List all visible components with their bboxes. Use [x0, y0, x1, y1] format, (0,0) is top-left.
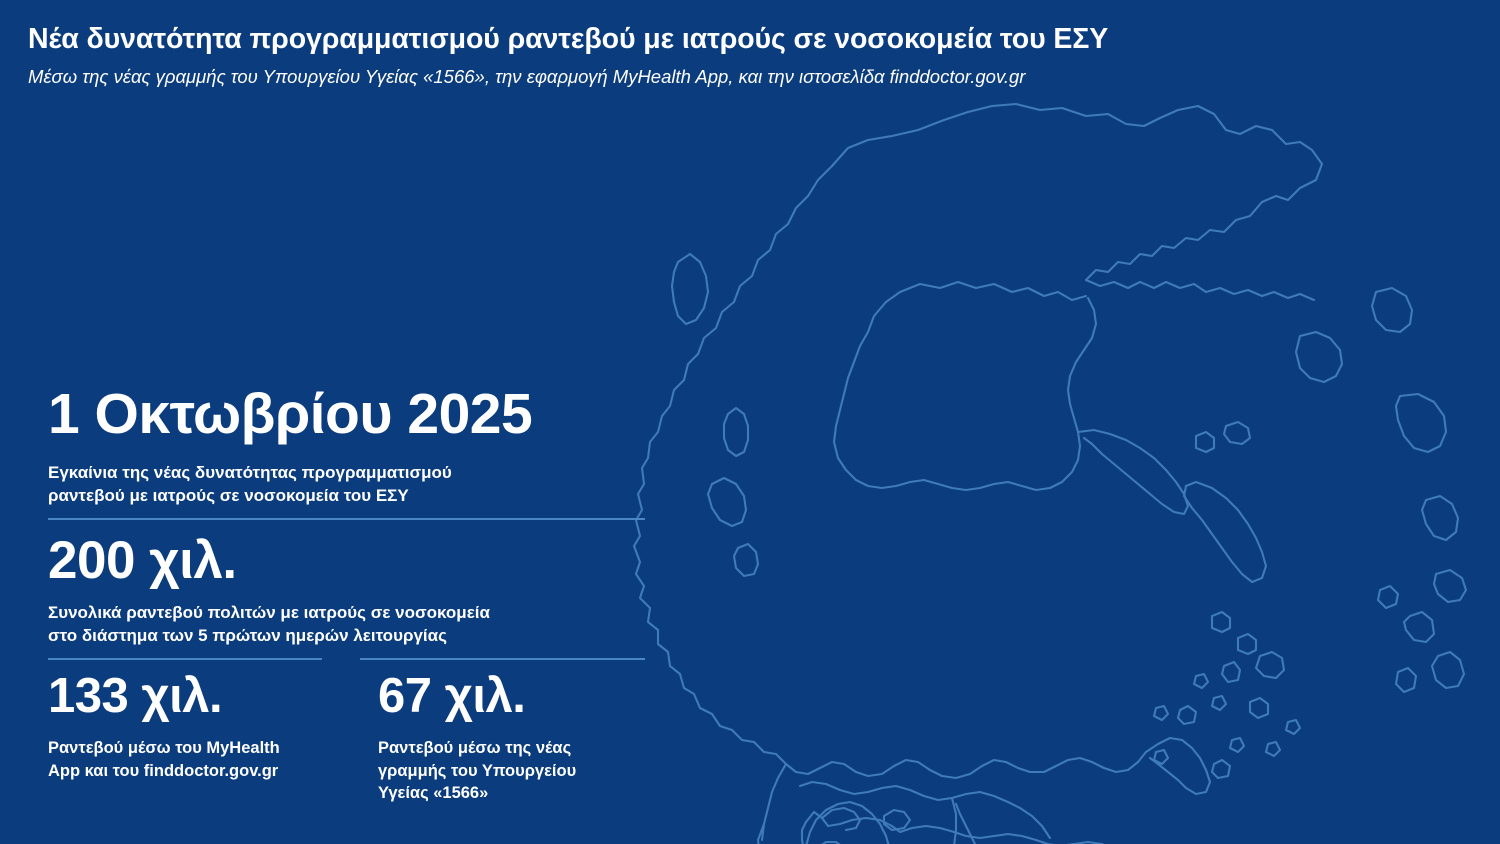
launch-date-value: 1 Οκτωβρίου 2025: [48, 386, 648, 443]
map-samos-island: [1434, 570, 1466, 602]
header: Νέα δυνατότητα προγραμματισμού ραντεβού …: [28, 22, 1478, 89]
map-gulf-of-corinth-north: [786, 752, 1146, 778]
map-kos-island: [1404, 612, 1434, 642]
map-corfu-island: [672, 254, 708, 324]
map-cyclades-small-island: [1286, 720, 1300, 734]
map-lefkada-island: [724, 408, 748, 456]
map-chios-island: [1422, 496, 1458, 540]
map-peloponnese-west: [758, 802, 892, 844]
map-kalymnos-island: [1378, 586, 1398, 608]
stat-block-total-appointments: 200 χιλ. Συνολικά ραντεβού πολιτών με ια…: [48, 534, 648, 647]
map-thessaly-boundary: [834, 292, 1096, 490]
map-euboea-island: [1184, 482, 1266, 582]
map-northern-border: [832, 104, 1322, 280]
divider-line-2: [48, 658, 322, 660]
page-subtitle: Μέσω της νέας γραμμής του Υπουργείου Υγε…: [28, 65, 1478, 89]
map-crete-island: [802, 812, 1220, 844]
map-crete-north-cape: [822, 808, 860, 830]
stats-panel: 1 Οκτωβρίου 2025 Εγκαίνια της νέας δυνατ…: [48, 386, 648, 804]
total-appointments-caption: Συνολικά ραντεβού πολιτών με ιατρούς σε …: [48, 602, 648, 647]
map-karpathos-island: [1396, 668, 1416, 692]
map-skiathos-island: [1196, 432, 1214, 452]
map-skopelos-island: [1224, 422, 1250, 444]
stat-block-launch-date: 1 Οκτωβρίου 2025 Εγκαίνια της νέας δυνατ…: [48, 386, 648, 520]
map-magnesia-peninsula: [1078, 430, 1188, 514]
hotline-caption: Ραντεβού μέσω της νέας γραμμής του Υπουρ…: [378, 737, 648, 803]
map-crete-spinalonga-bay: [884, 810, 910, 830]
stat-breakdown-row: 133 χιλ. Ραντεβού μέσω του MyHealth App …: [48, 672, 648, 803]
map-thrace-coast: [1086, 280, 1314, 300]
map-syros-island: [1222, 662, 1240, 682]
map-zakynthos-island: [734, 544, 758, 576]
map-naxos-island: [1250, 698, 1268, 718]
map-kythnos-island: [1194, 674, 1208, 688]
map-andros-island: [1212, 612, 1230, 632]
map-kefalonia-island: [708, 478, 746, 526]
map-peloponnese-mani: [952, 798, 1004, 844]
map-milos-island: [1154, 750, 1168, 764]
map-samothraki-island: [1372, 288, 1412, 332]
map-peloponnese-north: [762, 764, 1050, 840]
map-lesvos-island: [1396, 394, 1446, 452]
map-rhodes-island: [1432, 652, 1464, 688]
map-western-coast: [634, 166, 832, 764]
map-internal-boundary-north: [900, 282, 1086, 300]
map-kea-island: [1154, 706, 1168, 720]
total-appointments-value: 200 χιλ.: [48, 534, 648, 587]
map-tinos-island: [1238, 634, 1256, 654]
stat-block-hotline: 67 χιλ. Ραντεβού μέσω της νέας γραμμής τ…: [378, 672, 648, 803]
divider-line-1: [48, 518, 645, 520]
divider-gap: [322, 658, 360, 660]
page-title: Νέα δυνατότητα προγραμματισμού ραντεβού …: [28, 22, 1478, 57]
launch-date-caption: Εγκαίνια της νέας δυνατότητας προγραμματ…: [48, 462, 648, 507]
map-paros-island: [1212, 696, 1226, 710]
myhealth-caption: Ραντεβού μέσω του MyHealth App και του f…: [48, 737, 378, 781]
map-santorini-island: [1212, 760, 1230, 778]
map-serifos-island: [1178, 706, 1196, 724]
map-amorgos-island: [1266, 742, 1280, 756]
divider-group: [48, 658, 648, 660]
divider-line-3: [360, 658, 645, 660]
stat-block-myhealth: 133 χιλ. Ραντεβού μέσω του MyHealth App …: [48, 672, 378, 803]
map-limnos-island: [1296, 332, 1342, 382]
myhealth-value: 133 χιλ.: [48, 672, 378, 721]
map-mykonos-naxos-island: [1256, 652, 1284, 678]
map-attica-peninsula: [1146, 738, 1210, 794]
map-ios-island: [1230, 738, 1244, 752]
hotline-value: 67 χιλ.: [378, 672, 648, 721]
map-of-greece: [600, 96, 1500, 844]
infographic-canvas: Νέα δυνατότητα προγραμματισμού ραντεβού …: [0, 0, 1500, 844]
